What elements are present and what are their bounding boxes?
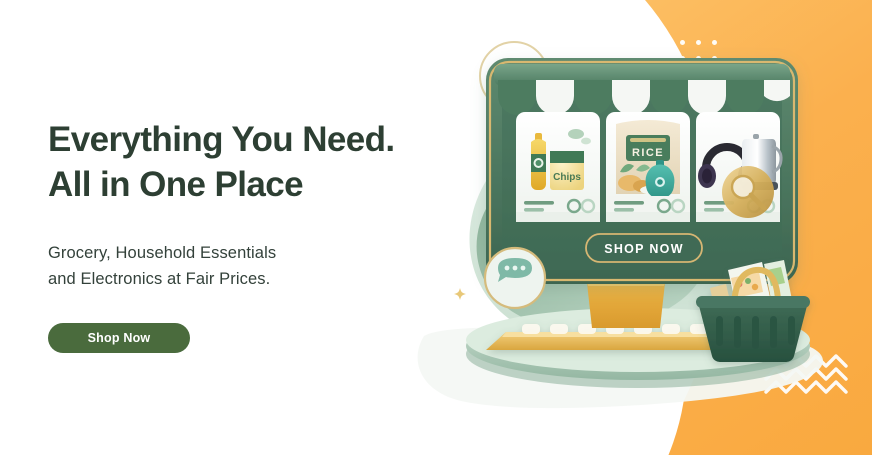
headline-line-2: All in One Place xyxy=(48,165,303,204)
chat-bubble-badge xyxy=(485,248,545,308)
screen-shop-now-label: SHOP NOW xyxy=(604,242,684,256)
headline-line-1: Everything You Need. xyxy=(48,120,395,159)
screen-shop-now-button: SHOP NOW xyxy=(586,234,702,262)
product-card-rice: RICE xyxy=(606,112,690,222)
product-card-oil-chips: Chips xyxy=(516,112,600,222)
subtext-line-1: Grocery, Household Essentials xyxy=(48,244,276,262)
chips-label: Chips xyxy=(553,172,581,183)
search-magnifier-badge xyxy=(722,166,774,218)
rice-label: RICE xyxy=(632,147,664,159)
subtext-line-2: and Electronics at Fair Prices. xyxy=(48,270,270,288)
page-title: Everything You Need. All in One Place xyxy=(48,118,478,208)
hero-copy: Everything You Need. All in One Place Gr… xyxy=(48,118,478,353)
hero-banner: Everything You Need. All in One Place Gr… xyxy=(0,0,872,455)
cooking-oil-bottle xyxy=(531,133,546,190)
shop-now-button[interactable]: Shop Now xyxy=(48,323,190,353)
hero-subtext: Grocery, Household Essentials and Electr… xyxy=(48,240,478,293)
chips-can: Chips xyxy=(550,151,584,190)
